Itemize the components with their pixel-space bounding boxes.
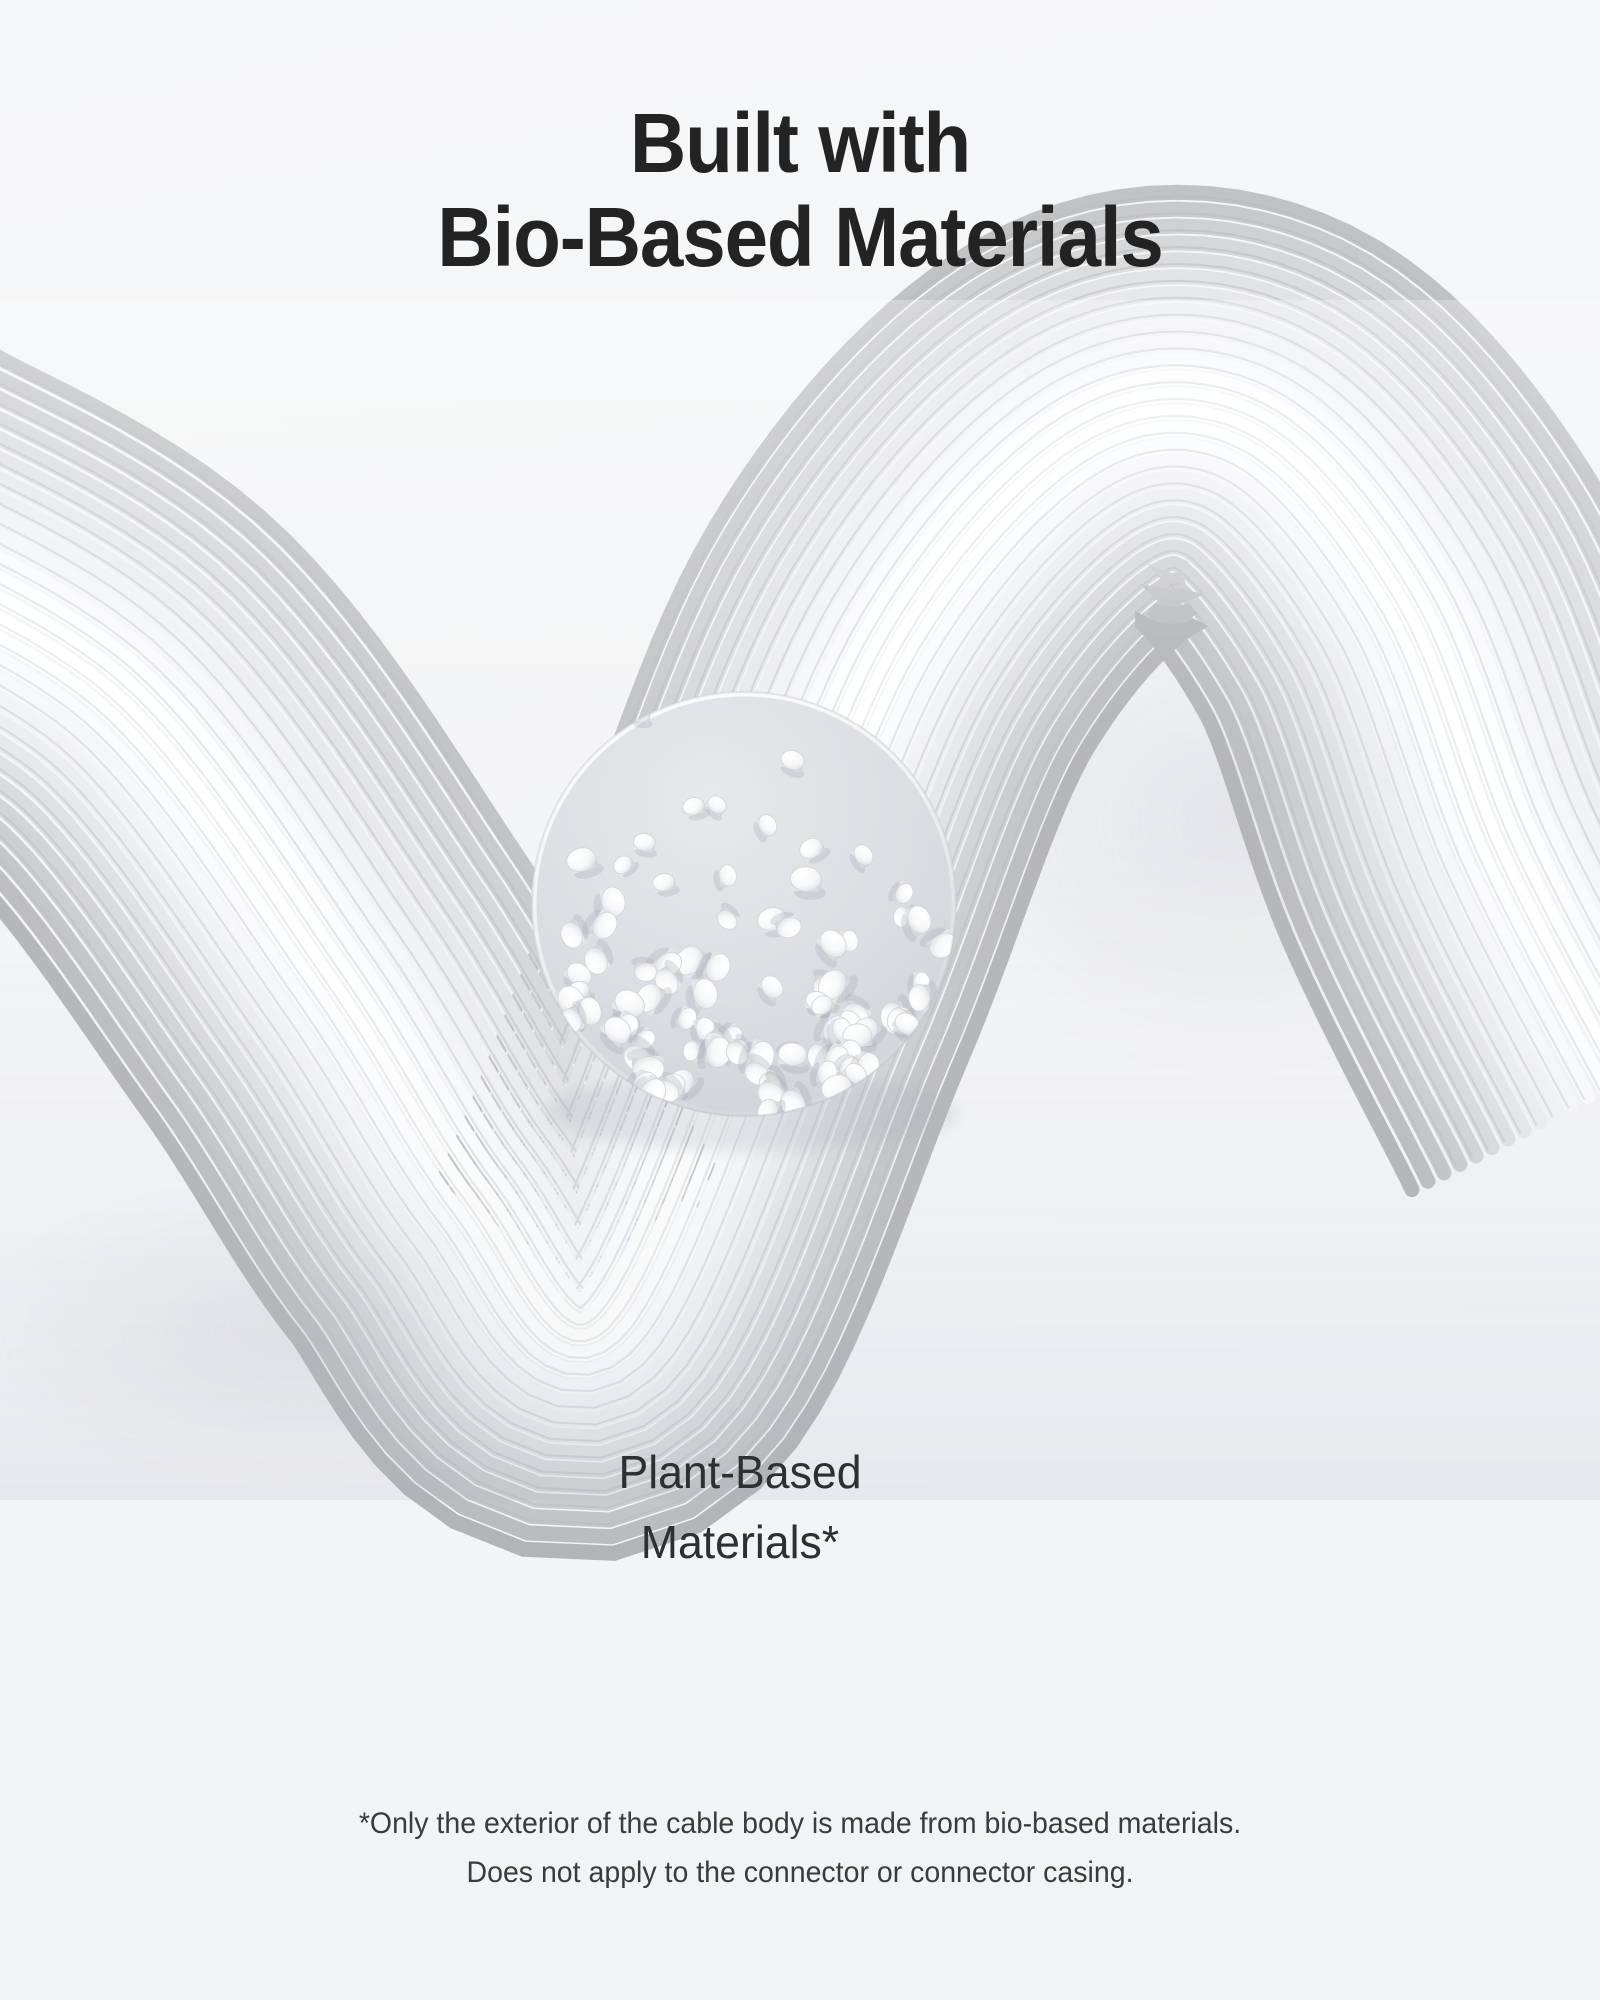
footnote-line-1: *Only the exterior of the cable body is … xyxy=(40,1800,1560,1849)
pellet-caption: Plant-Based Materials* xyxy=(430,1438,1050,1578)
footnote-line-2: Does not apply to the connector or conne… xyxy=(40,1849,1560,1898)
bio-based-materials-poster: Built with Bio-Based Materials Plant-Bas… xyxy=(0,0,1600,2000)
caption-line-2: Materials* xyxy=(439,1508,1040,1578)
product-artwork xyxy=(0,0,1600,2000)
caption-line-1: Plant-Based xyxy=(439,1438,1040,1508)
footnote-disclaimer: *Only the exterior of the cable body is … xyxy=(0,1800,1600,1897)
